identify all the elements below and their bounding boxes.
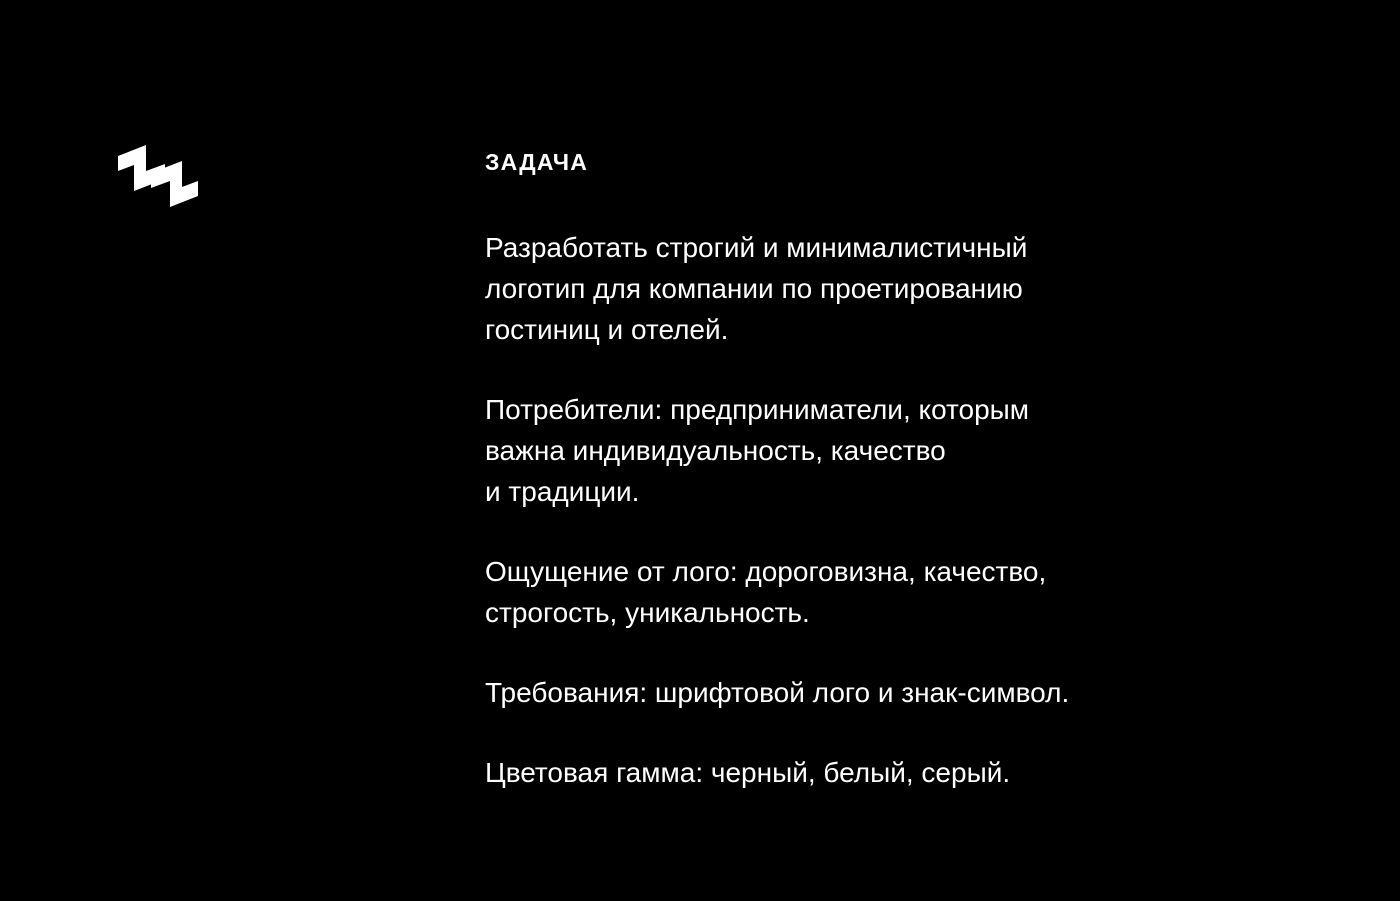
paragraph-palette: Цветовая гамма: черный, белый, серый. — [485, 752, 1305, 793]
paragraph-feeling: Ощущение от лого: дороговизна, качество,… — [485, 551, 1305, 633]
paragraph-brief: Разработать строгий и минималистичный ло… — [485, 227, 1305, 350]
slanted-n-logo-mark — [118, 145, 198, 207]
page-title: ЗАДАЧА — [485, 148, 1305, 176]
text-column: ЗАДАЧА Разработать строгий и минималисти… — [485, 148, 1305, 793]
paragraph-requirements: Требования: шрифтовой лого и знак-символ… — [485, 672, 1305, 713]
paragraph-audience: Потребители: предприниматели, которым ва… — [485, 389, 1305, 512]
slide-root: ЗАДАЧА Разработать строгий и минималисти… — [0, 0, 1400, 901]
